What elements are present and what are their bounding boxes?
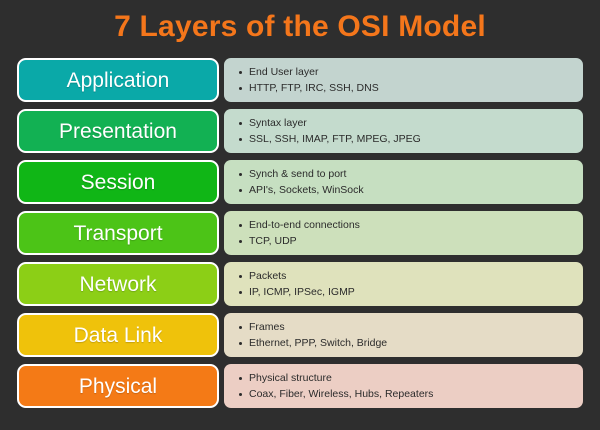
layer-description-panel: Physical structureCoax, Fiber, Wireless,… [224,364,583,408]
layer-row: NetworkPacketsIP, ICMP, IPSec, IGMP [17,262,583,306]
layer-detail-item: Physical structure [238,370,583,386]
layer-detail-item: SSL, SSH, IMAP, FTP, MPEG, JPEG [238,131,583,147]
layer-description-panel: FramesEthernet, PPP, Switch, Bridge [224,313,583,357]
layer-name-session[interactable]: Session [17,160,219,204]
layer-detail-item: Packets [238,268,583,284]
layer-name-application[interactable]: Application [17,58,219,102]
layer-detail-item: Coax, Fiber, Wireless, Hubs, Repeaters [238,386,583,402]
layer-detail-item: IP, ICMP, IPSec, IGMP [238,284,583,300]
layer-row: ApplicationEnd User layerHTTP, FTP, IRC,… [17,58,583,102]
layer-name-transport[interactable]: Transport [17,211,219,255]
layer-row: SessionSynch & send to portAPI's, Socket… [17,160,583,204]
layer-detail-item: HTTP, FTP, IRC, SSH, DNS [238,80,583,96]
layer-description-panel: Synch & send to portAPI's, Sockets, WinS… [224,160,583,204]
layer-name-network[interactable]: Network [17,262,219,306]
layer-row: PhysicalPhysical structureCoax, Fiber, W… [17,364,583,408]
layer-name-data-link[interactable]: Data Link [17,313,219,357]
layer-row: TransportEnd-to-end connectionsTCP, UDP [17,211,583,255]
osi-model-diagram: 7 Layers of the OSI Model ApplicationEnd… [0,0,600,430]
layer-detail-item: Ethernet, PPP, Switch, Bridge [238,335,583,351]
osi-layer-list: ApplicationEnd User layerHTTP, FTP, IRC,… [17,58,583,408]
layer-description-panel: End User layerHTTP, FTP, IRC, SSH, DNS [224,58,583,102]
layer-detail-item: Frames [238,319,583,335]
layer-detail-item: Synch & send to port [238,166,583,182]
layer-detail-item: End-to-end connections [238,217,583,233]
layer-name-physical[interactable]: Physical [17,364,219,408]
layer-description-panel: PacketsIP, ICMP, IPSec, IGMP [224,262,583,306]
layer-detail-item: End User layer [238,64,583,80]
layer-row: Data LinkFramesEthernet, PPP, Switch, Br… [17,313,583,357]
layer-detail-item: TCP, UDP [238,233,583,249]
layer-description-panel: End-to-end connectionsTCP, UDP [224,211,583,255]
layer-name-presentation[interactable]: Presentation [17,109,219,153]
layer-detail-item: API's, Sockets, WinSock [238,182,583,198]
layer-detail-item: Syntax layer [238,115,583,131]
layer-description-panel: Syntax layerSSL, SSH, IMAP, FTP, MPEG, J… [224,109,583,153]
layer-row: PresentationSyntax layerSSL, SSH, IMAP, … [17,109,583,153]
page-title: 7 Layers of the OSI Model [0,0,600,42]
